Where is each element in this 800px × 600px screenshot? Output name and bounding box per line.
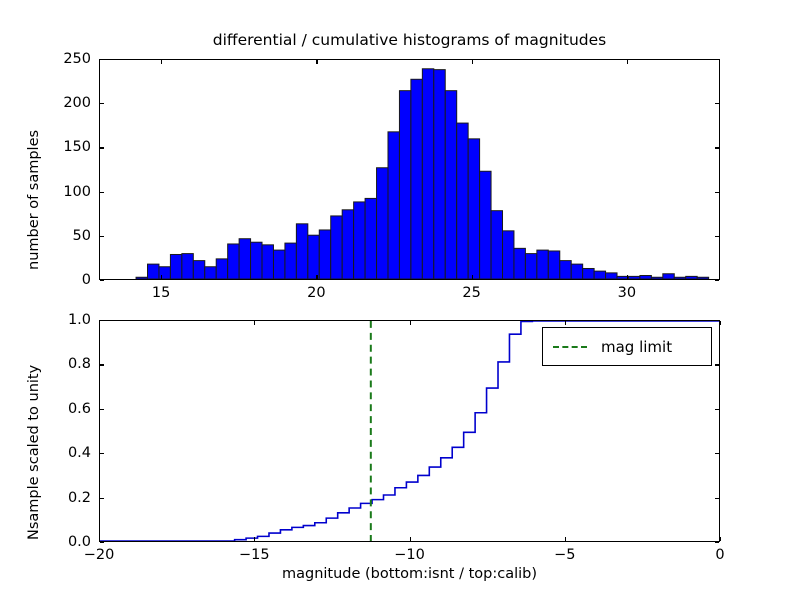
legend-label-mag-limit: mag limit	[601, 338, 672, 356]
histogram-bar	[273, 250, 284, 279]
y-tick-label: 0.8	[43, 356, 91, 372]
histogram-bar	[228, 244, 239, 279]
histogram-bar	[537, 250, 548, 279]
histogram-bar	[399, 91, 410, 279]
histogram-bar	[193, 261, 204, 279]
histogram-bar	[331, 216, 342, 279]
x-tick-label: 15	[152, 285, 170, 301]
y-tickmark	[100, 364, 104, 365]
x-tickmark	[161, 60, 162, 64]
matplotlib-figure: differential / cumulative histograms of …	[0, 0, 800, 600]
histogram-bar	[136, 277, 147, 279]
histogram-bar	[606, 273, 617, 279]
y-tickmark	[715, 364, 719, 365]
histogram-bar	[514, 248, 525, 279]
x-tickmark	[99, 537, 100, 541]
histogram-bar	[148, 264, 159, 279]
histogram-bar	[308, 235, 319, 279]
y-tickmark	[715, 409, 719, 410]
histogram-bar	[571, 264, 582, 279]
histogram-bar	[205, 267, 216, 279]
y-tickmark	[715, 320, 719, 321]
histogram-bar	[239, 239, 250, 279]
histogram-bar	[663, 274, 674, 279]
y-tickmark	[100, 192, 104, 193]
x-tickmark	[565, 537, 566, 541]
histogram-bar	[548, 251, 559, 279]
y-tickmark	[715, 236, 719, 237]
histogram-bar	[651, 277, 662, 279]
histogram-bar	[251, 242, 262, 279]
histogram-bar	[503, 231, 514, 279]
y-tick-label: 50	[43, 228, 91, 244]
y-tickmark	[100, 498, 104, 499]
x-tick-label: 25	[462, 285, 480, 301]
histogram-bar	[319, 230, 330, 279]
y-tickmark	[100, 320, 104, 321]
x-tickmark	[472, 275, 473, 279]
x-tickmark	[410, 321, 411, 325]
x-tick-label: −20	[84, 547, 115, 563]
y-tickmark	[100, 453, 104, 454]
histogram-bar	[388, 132, 399, 279]
x-tick-label: −5	[554, 547, 575, 563]
bottom-x-axis-label: magnitude (bottom:isnt / top:calib)	[99, 566, 720, 582]
y-tickmark	[715, 103, 719, 104]
x-tick-label: −15	[239, 547, 270, 563]
x-tickmark	[720, 321, 721, 325]
x-tickmark	[316, 60, 317, 64]
histogram-bar	[594, 271, 605, 279]
histogram-bar	[182, 254, 193, 279]
y-tick-label: 150	[43, 139, 91, 155]
histogram-bar	[365, 198, 376, 279]
y-tickmark	[715, 498, 719, 499]
y-tickmark	[715, 542, 719, 543]
x-tick-label: 0	[715, 547, 724, 563]
histogram-bar	[491, 211, 502, 279]
x-tickmark	[254, 321, 255, 325]
histogram-bar	[262, 245, 273, 279]
y-tickmark	[100, 147, 104, 148]
y-tickmark	[715, 59, 719, 60]
x-tickmark	[410, 537, 411, 541]
top-plot-area	[100, 60, 719, 279]
top-y-axis-label: number of samples	[26, 130, 42, 270]
histogram-bar	[640, 275, 651, 279]
histogram-bar	[480, 171, 491, 279]
y-tickmark	[715, 280, 719, 281]
histogram-bar	[411, 79, 422, 279]
y-tick-label: 0	[43, 272, 91, 288]
y-tick-label: 250	[43, 51, 91, 67]
histogram-bar	[457, 123, 468, 279]
histogram-bar	[628, 276, 639, 279]
y-tick-label: 1.0	[43, 312, 91, 328]
histogram-bar	[296, 224, 307, 279]
y-tickmark	[100, 542, 104, 543]
histogram-bar	[525, 254, 536, 279]
top-axes-histogram	[99, 59, 720, 280]
histogram-bar	[170, 254, 181, 279]
x-tickmark	[99, 321, 100, 325]
x-tickmark	[565, 321, 566, 325]
x-tickmark	[720, 537, 721, 541]
histogram-bar	[342, 210, 353, 279]
x-tickmark	[627, 275, 628, 279]
histogram-bar	[285, 243, 296, 279]
y-tick-label: 100	[43, 184, 91, 200]
histogram-bar	[434, 70, 445, 279]
y-tickmark	[100, 236, 104, 237]
histogram-bar	[422, 69, 433, 279]
x-tick-label: 20	[307, 285, 325, 301]
histogram-bar	[674, 277, 685, 279]
mag-limit-line-swatch-icon	[553, 346, 587, 348]
y-tickmark	[715, 453, 719, 454]
histogram-bar	[697, 277, 708, 279]
y-tickmark	[100, 59, 104, 60]
figure-title: differential / cumulative histograms of …	[99, 31, 720, 49]
histogram-bar	[216, 259, 227, 279]
y-tickmark	[715, 192, 719, 193]
y-tickmark	[715, 147, 719, 148]
histogram-bar	[354, 202, 365, 279]
histogram-bar	[377, 168, 388, 279]
x-tickmark	[161, 275, 162, 279]
y-tick-label: 0.6	[43, 401, 91, 417]
histogram-bar	[583, 268, 594, 279]
x-tickmark	[472, 60, 473, 64]
bottom-y-axis-label: Nsample scaled to unity	[26, 365, 42, 540]
histogram-bar	[445, 91, 456, 279]
x-tickmark	[627, 60, 628, 64]
x-tickmark	[254, 537, 255, 541]
x-tick-label: −10	[394, 547, 425, 563]
y-tick-label: 0.2	[43, 490, 91, 506]
differential-histogram-svg	[100, 60, 719, 279]
histogram-bar	[686, 276, 697, 279]
y-tickmark	[100, 103, 104, 104]
x-tickmark	[316, 275, 317, 279]
y-tick-label: 0.4	[43, 445, 91, 461]
legend[interactable]: mag limit	[542, 327, 712, 366]
y-tickmark	[100, 409, 104, 410]
y-tickmark	[100, 280, 104, 281]
y-tick-label: 200	[43, 95, 91, 111]
histogram-bar	[560, 261, 571, 279]
histogram-bar	[468, 139, 479, 279]
x-tick-label: 30	[618, 285, 636, 301]
